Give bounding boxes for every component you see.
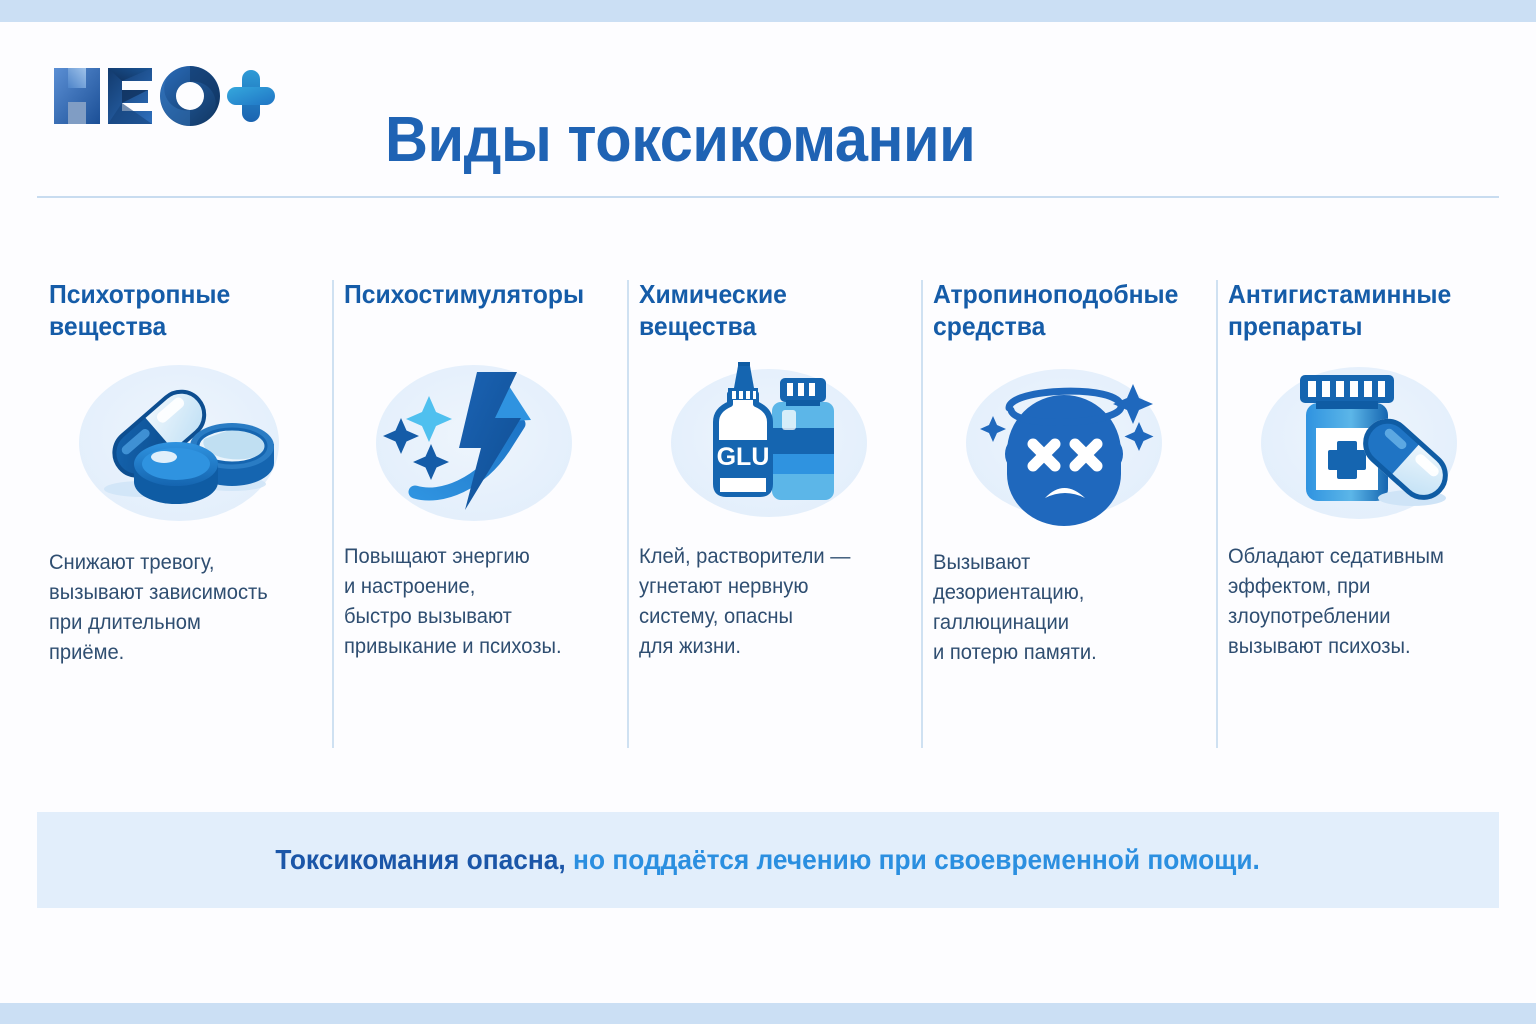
- category-title: Психостимуляторы: [344, 278, 592, 344]
- dizzy-face-icon: [933, 358, 1194, 528]
- category-body: Клей, растворители — угнетают нервную си…: [639, 542, 889, 662]
- category-column-psychotropic: Психотропные вещества: [37, 278, 332, 748]
- glue-solvent-bottles-icon: GLU: [639, 358, 900, 528]
- footer-strong-text: Токсикомания опасна,: [276, 844, 566, 875]
- category-title: Химические вещества: [639, 278, 887, 344]
- top-accent-band: [0, 0, 1536, 22]
- category-body: Снижают тревогу, вызывают зависимость пр…: [49, 548, 299, 668]
- category-body: Вызывают дезориентацию, галлюцинации и п…: [933, 548, 1183, 668]
- neo-plus-logo: [46, 60, 286, 132]
- footer-banner: Токсикомания опасна, но поддаётся лечени…: [37, 812, 1499, 908]
- category-body: Повыщают энергию и настроение, быстро вы…: [344, 542, 594, 662]
- category-column-antihistamines: Антигистаминные препараты: [1216, 278, 1511, 748]
- category-title: Антигистаминные препараты: [1228, 278, 1476, 344]
- pill-bottle-capsule-icon: [1228, 358, 1489, 528]
- lightning-bolt-arrow-icon: [344, 358, 605, 528]
- category-column-stimulants: Психостимуляторы: [332, 278, 627, 748]
- category-title: Атропиноподобные средства: [933, 278, 1181, 344]
- infographic-poster: Виды токсикомании Психотропные вещества: [0, 0, 1536, 1024]
- bottom-accent-band: [0, 1003, 1536, 1024]
- page-title: Виды токсикомании: [385, 103, 975, 175]
- footer-light-text: но поддаётся лечению при своевременной п…: [566, 844, 1260, 875]
- category-body: Обладают седативным эффектом, при злоупо…: [1228, 542, 1478, 662]
- footer-message: Токсикомания опасна, но поддаётся лечени…: [276, 844, 1260, 876]
- category-column-atropine: Атропиноподобные средства: [921, 278, 1216, 748]
- category-title: Психотропные вещества: [49, 278, 297, 344]
- glue-bottle-label: GLU: [717, 443, 770, 471]
- category-column-chemicals: Химические вещества: [627, 278, 922, 748]
- pills-capsule-icon: [49, 358, 310, 528]
- header: Виды токсикомании: [0, 22, 1536, 197]
- category-columns: Психотропные вещества: [37, 278, 1511, 748]
- header-divider: [37, 196, 1499, 198]
